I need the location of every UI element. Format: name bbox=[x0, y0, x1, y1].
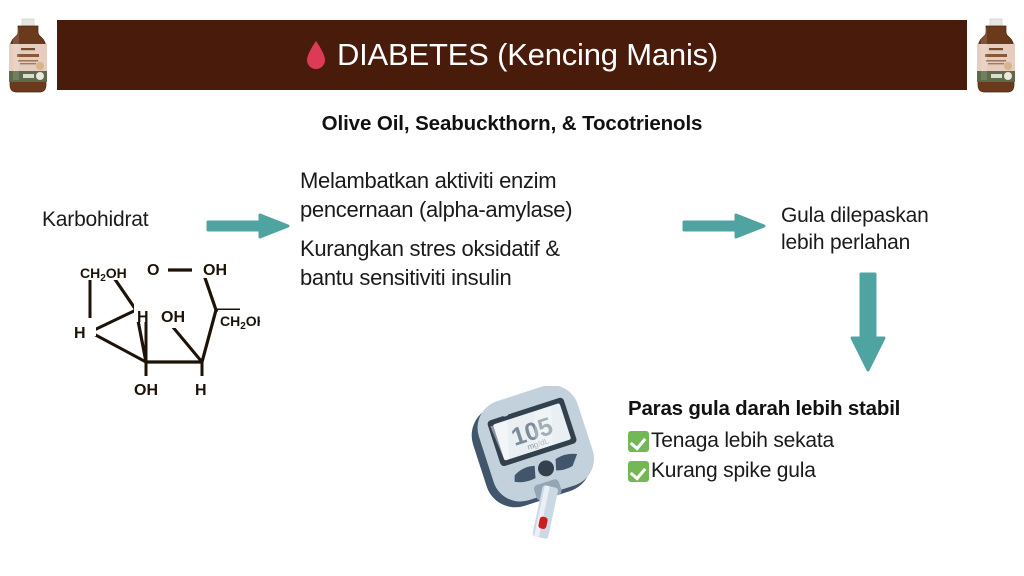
blood-drop-icon bbox=[306, 41, 326, 69]
mechanism-line-4: bantu sensitiviti insulin bbox=[300, 263, 692, 292]
flow-mechanism-block: Melambatkan aktiviti enzim pencernaan (a… bbox=[300, 166, 692, 292]
header-bar: DIABETES (Kencing Manis) bbox=[57, 20, 967, 90]
conclusion-item-label: Kurang spike gula bbox=[651, 457, 816, 485]
svg-text:H: H bbox=[195, 382, 207, 398]
svg-text:OH: OH bbox=[161, 309, 185, 326]
mechanism-line-2: pencernaan (alpha-amylase) bbox=[300, 195, 692, 224]
conclusion-item-label: Tenaga lebih sekata bbox=[651, 427, 834, 455]
flow-arrow-right-1 bbox=[206, 212, 292, 240]
svg-text:OH: OH bbox=[203, 262, 227, 279]
svg-text:H: H bbox=[137, 309, 149, 326]
svg-text:OH: OH bbox=[134, 382, 158, 398]
conclusion-item-2: Kurang spike gula bbox=[628, 457, 998, 485]
svg-text:H: H bbox=[74, 325, 86, 342]
slide-canvas: DIABETES (Kencing Manis) Olive Oil, Seab… bbox=[0, 0, 1024, 576]
molecule-label-ring-oxygen: O bbox=[147, 262, 159, 279]
check-mark-icon bbox=[628, 431, 649, 452]
flow-arrow-right-2 bbox=[682, 212, 768, 240]
glucometer-device: 105 mg/dL bbox=[462, 386, 622, 546]
product-bottle-right bbox=[972, 18, 1020, 94]
subtitle: Olive Oil, Seabuckthorn, & Tocotrienols bbox=[0, 112, 1024, 136]
product-bottle-left bbox=[4, 18, 52, 94]
conclusion-title: Paras gula darah lebih stabil bbox=[628, 396, 998, 422]
fructose-ring-structure: O CH2OH OH H H OH CH2OH OH H bbox=[40, 248, 260, 398]
outcome-line-2: lebih perlahan bbox=[781, 229, 1013, 256]
mechanism-paragraph-1: Melambatkan aktiviti enzim pencernaan (a… bbox=[300, 166, 692, 224]
svg-text:CH2OH: CH2OH bbox=[220, 313, 260, 332]
conclusion-item-1: Tenaga lebih sekata bbox=[628, 427, 998, 455]
flow-input-label: Karbohidrat bbox=[42, 208, 148, 232]
flow-outcome-block: Gula dilepaskan lebih perlahan bbox=[781, 202, 1013, 256]
mechanism-line-1: Melambatkan aktiviti enzim bbox=[300, 166, 692, 195]
page-title: DIABETES (Kencing Manis) bbox=[337, 39, 718, 72]
conclusion-block: Paras gula darah lebih stabil Tenaga leb… bbox=[628, 396, 998, 487]
mechanism-line-3: Kurangkan stres oksidatif & bbox=[300, 234, 692, 263]
flow-arrow-down bbox=[845, 272, 891, 374]
mechanism-paragraph-2: Kurangkan stres oksidatif & bantu sensit… bbox=[300, 234, 692, 292]
check-mark-icon bbox=[628, 461, 649, 482]
outcome-line-1: Gula dilepaskan bbox=[781, 202, 1013, 229]
